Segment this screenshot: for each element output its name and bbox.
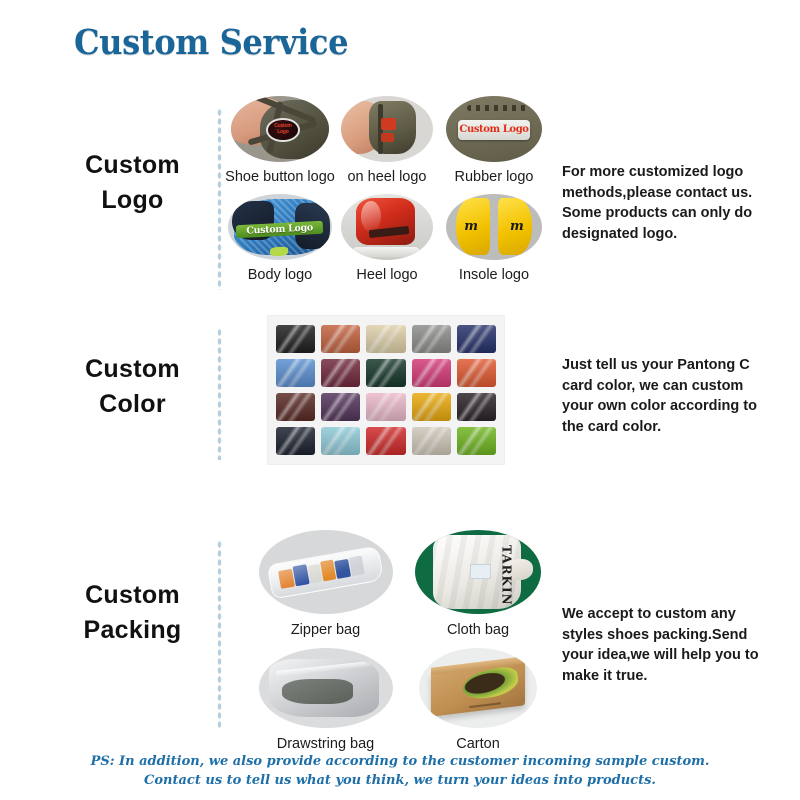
red-logo-tab — [381, 118, 397, 130]
color-swatch-purple[interactable] — [321, 393, 360, 421]
carton-photo — [419, 648, 537, 728]
logo-caption: Insole logo — [459, 267, 529, 283]
plastic-bag-shape — [267, 546, 384, 600]
red-logo-tab — [381, 133, 395, 142]
color-swatch-pale-blue[interactable] — [321, 427, 360, 455]
strap-text: Custom Logo — [246, 222, 313, 236]
dotted-divider-color — [217, 328, 222, 460]
section-label-packing-line2: Packing — [60, 613, 205, 648]
insole-monogram: m — [464, 219, 478, 234]
footer-line-2: Contact us to tell us what you think, we… — [0, 771, 800, 790]
custom-service-infographic: Custom Service Custom Logo Custom Log — [0, 0, 800, 800]
color-swatch-stone[interactable] — [412, 427, 451, 455]
color-swatch-navy[interactable] — [457, 325, 496, 353]
dotted-divider-packing — [217, 540, 222, 730]
note-custom-color: Just tell us your Pantong C card color, … — [562, 355, 762, 437]
section-label-color-line1: Custom — [60, 352, 205, 387]
color-swatch-black[interactable] — [276, 325, 315, 353]
logo-caption: on heel logo — [347, 169, 426, 185]
shoe-button-logo-photo: Custom Logo — [231, 96, 329, 162]
section-label-logo: Custom Logo — [60, 148, 205, 218]
heel-logo-photo — [341, 194, 433, 260]
color-swatch-orange[interactable] — [457, 359, 496, 387]
insole-logo-photo: m m — [446, 194, 542, 260]
bag-label-tag — [470, 564, 490, 579]
logo-caption: Rubber logo — [455, 169, 534, 185]
page-title: Custom Service — [74, 22, 348, 63]
section-label-color: Custom Color — [60, 352, 205, 422]
section-label-logo-line1: Custom — [60, 148, 205, 183]
logo-row-1: Custom Logo Shoe button logo on heel log… — [225, 96, 549, 185]
logo-caption: Body logo — [248, 267, 313, 283]
zipper-bag-photo — [259, 530, 393, 614]
packing-row-2: Drawstring bag Carton — [248, 648, 553, 752]
badge-text: Custom Logo — [268, 124, 297, 135]
color-swatch-light-pink[interactable] — [366, 393, 405, 421]
color-swatch-grid — [276, 325, 496, 455]
section-label-color-line2: Color — [60, 387, 205, 422]
color-swatch-maroon[interactable] — [321, 359, 360, 387]
sole-shape — [352, 247, 420, 258]
poly-bag-shape — [269, 659, 379, 717]
logo-item-heel[interactable]: Heel logo — [335, 194, 439, 283]
drawstring-bag-photo — [259, 648, 393, 728]
note-custom-logo: For more customized logo methods,please … — [562, 162, 762, 244]
packing-caption: Carton — [456, 736, 500, 752]
color-swatch-magenta[interactable] — [412, 359, 451, 387]
color-swatch-ink-black[interactable] — [276, 427, 315, 455]
logo-item-body[interactable]: Custom Logo Body logo — [225, 194, 335, 283]
rubber-logo-patch: Custom Logo — [458, 120, 529, 140]
carton-print-line — [469, 702, 501, 708]
on-heel-logo-photo — [341, 96, 433, 162]
rubber-logo-photo: Custom Logo — [446, 96, 542, 162]
packing-caption: Drawstring bag — [277, 736, 375, 752]
color-swatch-sky-blue[interactable] — [276, 359, 315, 387]
color-swatch-lime-green[interactable] — [457, 427, 496, 455]
packing-row-1: Zipper bag TARKIN Cloth bag — [248, 530, 553, 638]
logo-caption: Shoe button logo — [225, 169, 335, 185]
green-accent — [270, 247, 289, 256]
packing-item-zipper-bag[interactable]: Zipper bag — [248, 530, 403, 638]
dotted-divider-logo — [217, 108, 222, 290]
logo-item-insole[interactable]: m m Insole logo — [439, 194, 549, 283]
logo-row-2: Custom Logo Body logo Heel logo — [225, 194, 549, 283]
logo-item-rubber[interactable]: Custom Logo Rubber logo — [439, 96, 549, 185]
bag-fold-highlight — [276, 661, 371, 677]
color-swatch-dark-green[interactable] — [366, 359, 405, 387]
stitch-row — [467, 105, 530, 112]
footer-line-1: PS: In addition, we also provide accordi… — [91, 754, 710, 769]
logo-item-shoe-button[interactable]: Custom Logo Shoe button logo — [225, 96, 335, 185]
color-swatch-grey[interactable] — [412, 325, 451, 353]
logo-item-on-heel[interactable]: on heel logo — [335, 96, 439, 185]
round-logo-badge: Custom Logo — [266, 118, 299, 142]
color-swatch-beige[interactable] — [366, 325, 405, 353]
note-custom-packing: We accept to custom any styles shoes pac… — [562, 604, 762, 686]
section-label-logo-line2: Logo — [60, 183, 205, 218]
plastic-sheen — [268, 547, 383, 599]
color-swatch-terracotta[interactable] — [321, 325, 360, 353]
packing-media-area: Zipper bag TARKIN Cloth bag — [248, 530, 553, 752]
packing-caption: Cloth bag — [447, 622, 509, 638]
color-swatch-panel — [268, 316, 504, 464]
color-swatch-brown[interactable] — [276, 393, 315, 421]
footer-ps-note: PS: In addition, we also provide accordi… — [0, 752, 800, 790]
logo-caption: Heel logo — [356, 267, 417, 283]
section-label-packing: Custom Packing — [60, 578, 205, 648]
color-swatch-charcoal[interactable] — [457, 393, 496, 421]
bag-contents — [282, 679, 352, 704]
patch-text: Custom Logo — [459, 124, 528, 135]
insole-monogram: m — [510, 219, 524, 234]
packing-item-drawstring-bag[interactable]: Drawstring bag — [248, 648, 403, 752]
cloth-bag-photo: TARKIN — [415, 530, 541, 614]
packing-caption: Zipper bag — [291, 622, 360, 638]
section-label-packing-line1: Custom — [60, 578, 205, 613]
packing-item-carton[interactable]: Carton — [403, 648, 553, 752]
color-swatch-red[interactable] — [366, 427, 405, 455]
logo-media-area: Custom Logo Shoe button logo on heel log… — [225, 96, 549, 283]
packing-item-cloth-bag[interactable]: TARKIN Cloth bag — [403, 530, 553, 638]
color-swatch-gold[interactable] — [412, 393, 451, 421]
cloth-bag-brand-text: TARKIN — [499, 545, 513, 606]
body-logo-photo: Custom Logo — [228, 194, 332, 260]
